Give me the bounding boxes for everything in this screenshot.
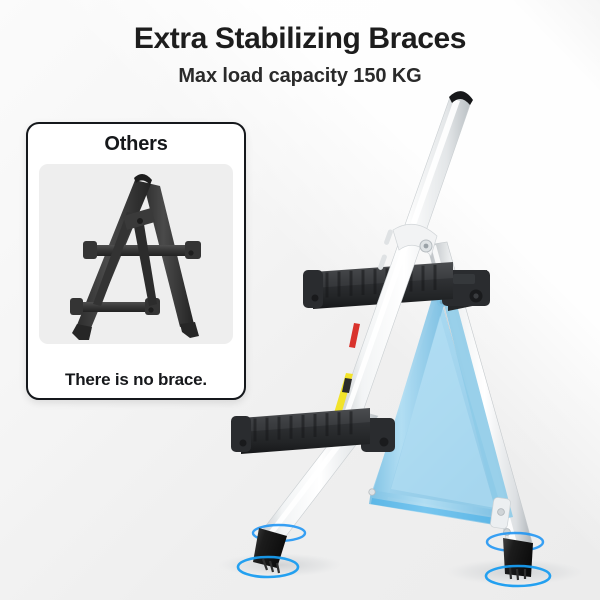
others-inner-strut-2 [132,216,157,306]
product-ladder-illustration [195,80,600,600]
warning-label-red [349,323,360,348]
page-title: Extra Stabilizing Braces [0,22,600,56]
product-ladder-image [195,80,600,600]
product-feature-image: Extra Stabilizing Braces Max load capaci… [0,0,600,600]
headline-block: Extra Stabilizing Braces Max load capaci… [0,22,600,88]
